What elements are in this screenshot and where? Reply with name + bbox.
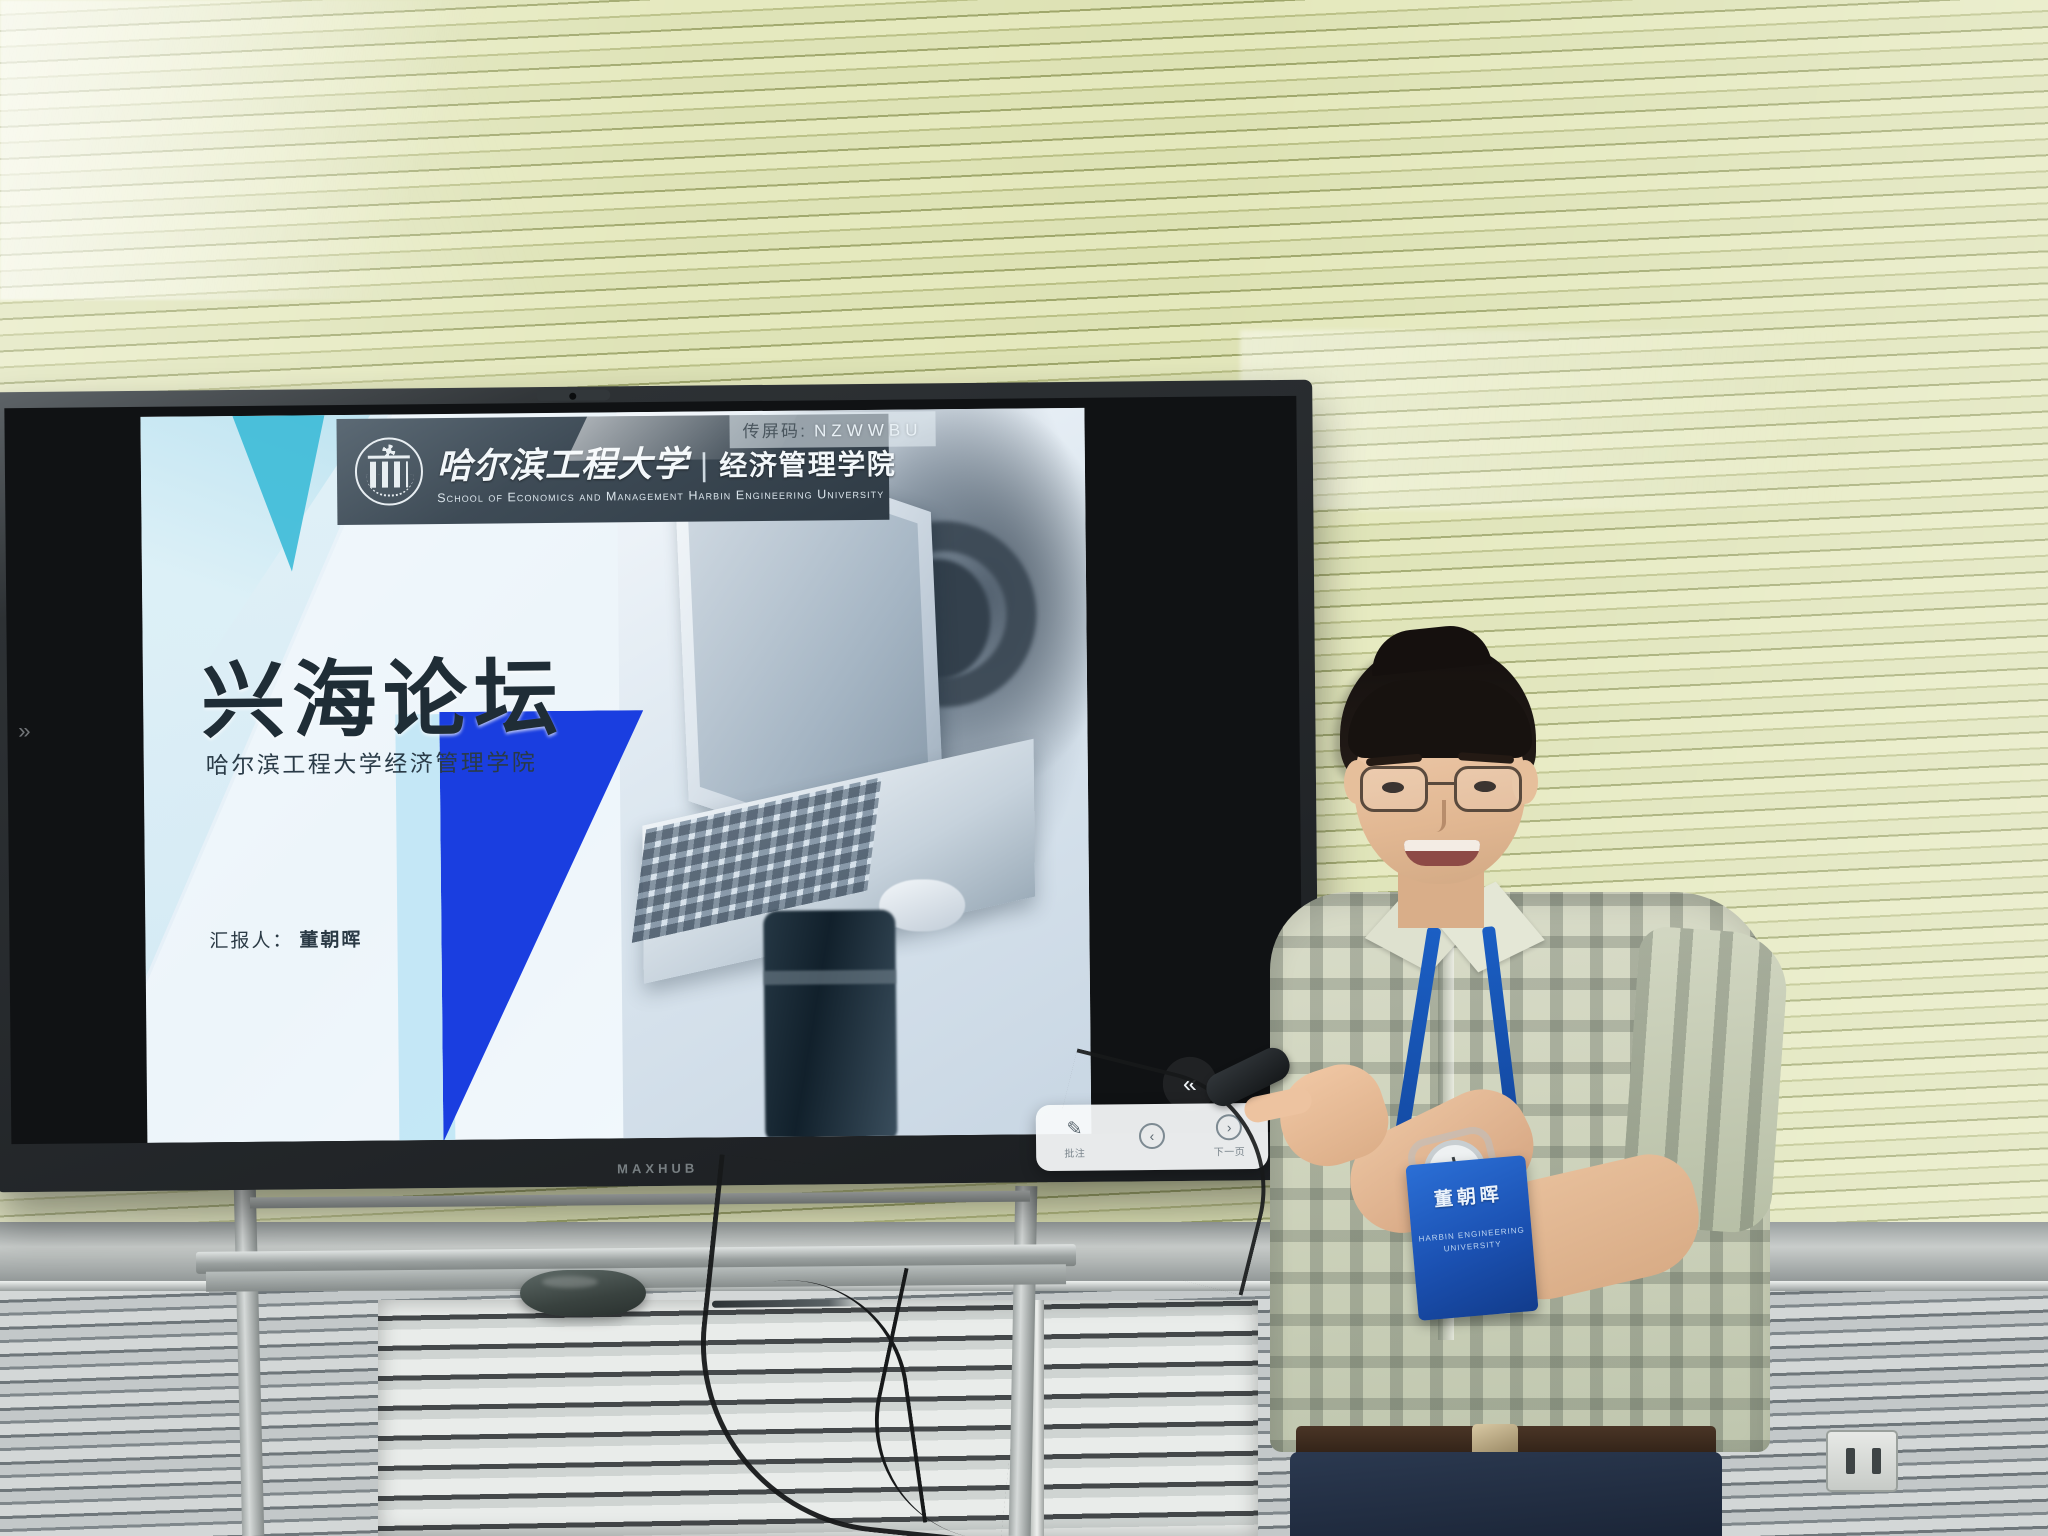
desk-cup-ring (764, 970, 896, 985)
cast-code-label: 传屏码: (743, 422, 808, 442)
cast-code-chip: 传屏码: NZWWBU (729, 411, 935, 448)
nose (1428, 800, 1446, 832)
panel-screen[interactable]: 哈尔滨工程大学 | 经济管理学院 School of Economics and… (4, 396, 1303, 1144)
slide-title: 兴海论坛 (201, 631, 566, 755)
conference-mic-puck[interactable] (520, 1270, 646, 1316)
presenter-person: 董朝晖 HARBIN ENGINEERING UNIVERSITY (1262, 640, 1782, 1536)
banner-separator: | (700, 446, 709, 483)
presenter-name: 董朝晖 (299, 930, 362, 952)
badge-name-text: 董朝晖 (1433, 1179, 1504, 1212)
wall-plastic-sheeting-right (1240, 330, 2048, 510)
wall-plastic-sheeting (0, 0, 700, 300)
desk-cup (763, 910, 897, 1141)
name-badge: 董朝晖 HARBIN ENGINEERING UNIVERSITY (1405, 1155, 1538, 1321)
banner-english-name: School of Economics and Management Harbi… (437, 486, 896, 504)
crest-arc-icon (366, 474, 414, 496)
room-scene: 哈尔滨工程大学 | 经济管理学院 School of Economics and… (0, 0, 2048, 1536)
trousers (1290, 1452, 1722, 1536)
badge-sub-text: HARBIN ENGINEERING UNIVERSITY (1411, 1224, 1533, 1258)
presenter-label: 汇报人： (209, 930, 293, 952)
glasses-lens-left (1360, 766, 1428, 812)
presentation-slide[interactable]: 哈尔滨工程大学 | 经济管理学院 School of Economics and… (140, 408, 1091, 1143)
slide-subtitle: 哈尔滨工程大学经济管理学院 (206, 743, 538, 780)
university-crest-icon (355, 437, 424, 506)
wall-power-socket (1826, 1430, 1898, 1492)
chevrons-right-icon[interactable]: » (9, 708, 39, 754)
cast-code-value: NZWWBU (814, 420, 923, 440)
crest-star-icon (382, 444, 395, 457)
hair-fringe (1348, 680, 1532, 758)
banner-school-name: 经济管理学院 (719, 442, 896, 484)
panel-camera-icon (536, 389, 610, 401)
glasses-lens-right (1454, 766, 1522, 812)
teeth (1404, 840, 1480, 851)
banner-university-name: 哈尔滨工程大学 (437, 435, 689, 488)
mouth (1404, 840, 1480, 866)
glasses-bridge (1428, 782, 1454, 785)
slide-shape-cyan-triangle (232, 415, 325, 572)
slide-presenter-line: 汇报人：董朝晖 (209, 925, 362, 953)
